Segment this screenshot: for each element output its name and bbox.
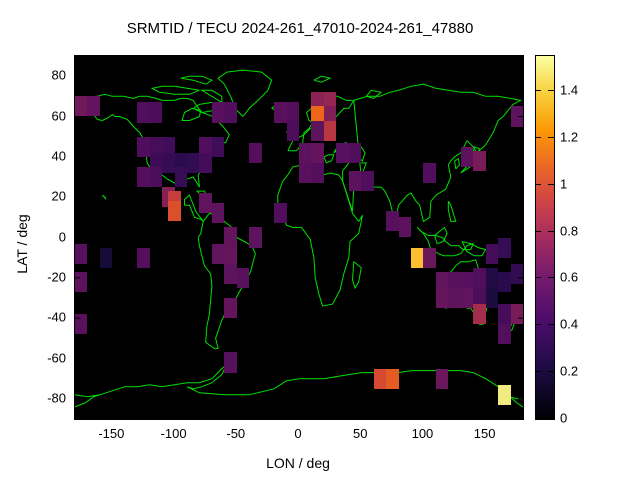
- axis-tick-layer: [75, 56, 523, 419]
- x-tick-label: 0: [294, 426, 301, 441]
- colorbar-tick: [535, 137, 541, 138]
- x-axis-title: LON / deg: [74, 455, 522, 471]
- y-tick-label: -60: [16, 350, 66, 365]
- x-tick-label: -50: [226, 426, 245, 441]
- colorbar-tick-label: 1.4: [560, 83, 578, 98]
- figure: SRMTID / TECU 2024-261_47010-2024-261_47…: [0, 0, 640, 480]
- y-tick-label: 60: [16, 108, 66, 123]
- map-plot-area: [74, 55, 524, 420]
- x-tick-label: 50: [353, 426, 367, 441]
- colorbar-tick: [548, 137, 554, 138]
- colorbar-tick: [548, 277, 554, 278]
- colorbar-tick: [535, 371, 541, 372]
- y-tick-label: 40: [16, 148, 66, 163]
- colorbar-tick: [535, 90, 541, 91]
- x-tick-label: 150: [474, 426, 496, 441]
- x-tick-label: -100: [161, 426, 187, 441]
- x-tick-label: -150: [98, 426, 124, 441]
- colorbar-tick: [535, 418, 541, 419]
- colorbar-tick-label: 0.8: [560, 223, 578, 238]
- colorbar-tick: [548, 324, 554, 325]
- chart-title: SRMTID / TECU 2024-261_47010-2024-261_47…: [0, 20, 600, 37]
- colorbar-tick-label: 0: [560, 411, 567, 426]
- colorbar-tick-label: 0.4: [560, 317, 578, 332]
- colorbar-tick: [535, 324, 541, 325]
- colorbar-tick: [548, 418, 554, 419]
- colorbar-tick-label: 1.2: [560, 129, 578, 144]
- x-tick-label: 100: [412, 426, 434, 441]
- colorbar-tick-label: 1: [560, 176, 567, 191]
- y-tick-label: 80: [16, 68, 66, 83]
- colorbar-tick: [548, 371, 554, 372]
- colorbar-tick: [548, 184, 554, 185]
- y-tick-label: -40: [16, 310, 66, 325]
- colorbar-tick: [535, 277, 541, 278]
- colorbar-tick-label: 0.6: [560, 270, 578, 285]
- colorbar-tick: [548, 231, 554, 232]
- colorbar-tick: [535, 184, 541, 185]
- colorbar-tick-label: 0.2: [560, 364, 578, 379]
- y-axis-title: LAT / deg: [14, 184, 30, 304]
- y-tick-label: -80: [16, 390, 66, 405]
- colorbar-tick: [548, 90, 554, 91]
- colorbar-tick: [535, 231, 541, 232]
- colorbar: [535, 55, 555, 420]
